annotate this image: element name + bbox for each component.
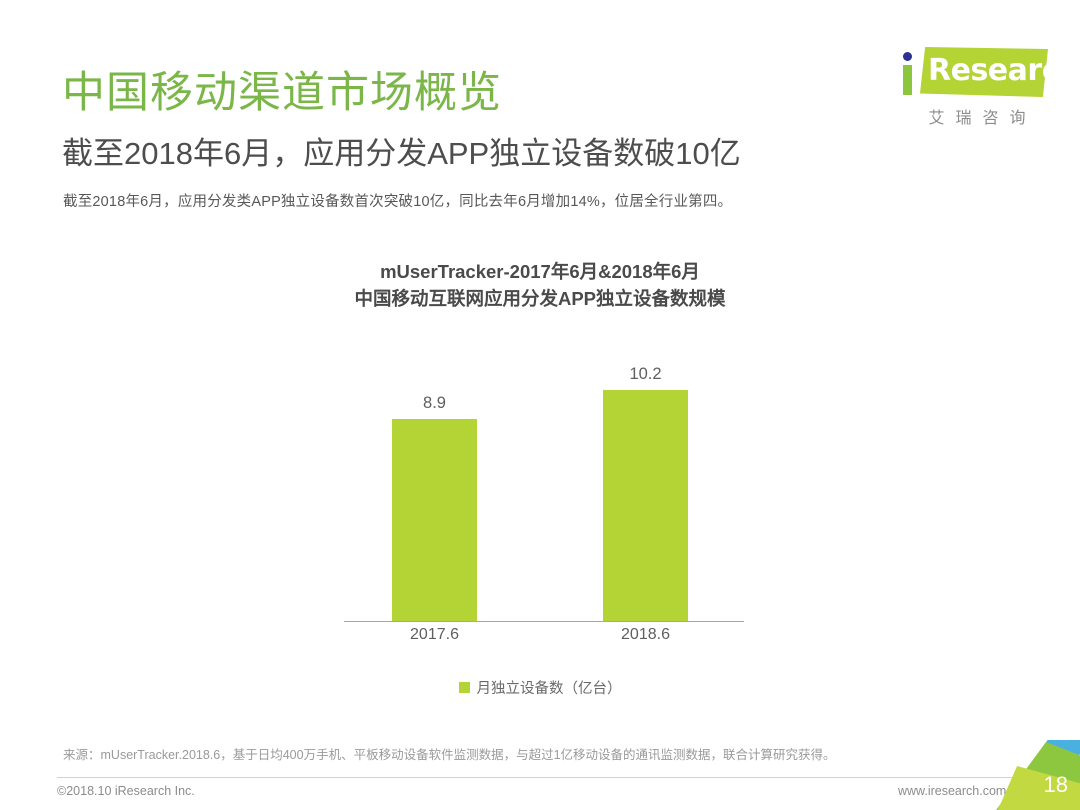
logo-i-stem-icon (903, 65, 912, 95)
x-tick-label: 2018.6 (603, 626, 688, 644)
website-url: www.iresearch.com.cn (898, 784, 1023, 798)
x-axis-line (344, 621, 744, 622)
bar-rect[interactable] (392, 419, 477, 621)
logo-mark: Research (882, 44, 1052, 102)
page-number: 18 (1044, 772, 1068, 798)
lead-paragraph: 截至2018年6月，应用分发类APP独立设备数首次突破10亿，同比去年6月增加1… (63, 190, 732, 211)
bar-value-label: 10.2 (603, 365, 688, 384)
bar-value-label: 8.9 (392, 394, 477, 413)
bar-rect[interactable] (603, 390, 688, 621)
chart-title-line-1: mUserTracker-2017年6月&2018年6月 (0, 258, 1080, 285)
logo-chinese-name: 艾瑞咨询 (902, 104, 1052, 128)
logo-i-dot-icon (903, 52, 912, 61)
chart-legend: 月独立设备数（亿台） (330, 677, 750, 698)
logo-wordmark: Research (928, 53, 1080, 88)
page-subtitle: 截至2018年6月，应用分发APP独立设备数破10亿 (62, 128, 741, 173)
chart-title: mUserTracker-2017年6月&2018年6月 中国移动互联网应用分发… (0, 258, 1080, 312)
bar-group-2017-6: 8.9 (392, 419, 477, 621)
bar-chart: 8.9 10.2 2017.6 2018.6 月独立设备数（亿台） (330, 350, 750, 660)
chart-plot-area: 8.9 10.2 (330, 350, 750, 622)
legend-label: 月独立设备数（亿台） (477, 677, 622, 698)
x-tick-label: 2017.6 (392, 626, 477, 644)
source-note: 来源：mUserTracker.2018.6，基于日均400万手机、平板移动设备… (63, 744, 836, 763)
page-title: 中国移动渠道市场概览 (62, 58, 502, 120)
slide-canvas: 中国移动渠道市场概览 截至2018年6月，应用分发APP独立设备数破10亿 截至… (0, 0, 1080, 810)
chart-title-line-2: 中国移动互联网应用分发APP独立设备数规模 (0, 285, 1080, 312)
iresearch-logo: Research 艾瑞咨询 (882, 44, 1052, 136)
bar-group-2018-6: 10.2 (603, 390, 688, 621)
corner-blue-shape (1014, 740, 1080, 774)
copyright-text: ©2018.10 iResearch Inc. (57, 784, 195, 798)
legend-color-swatch (459, 682, 470, 693)
footer-divider (57, 777, 1023, 778)
